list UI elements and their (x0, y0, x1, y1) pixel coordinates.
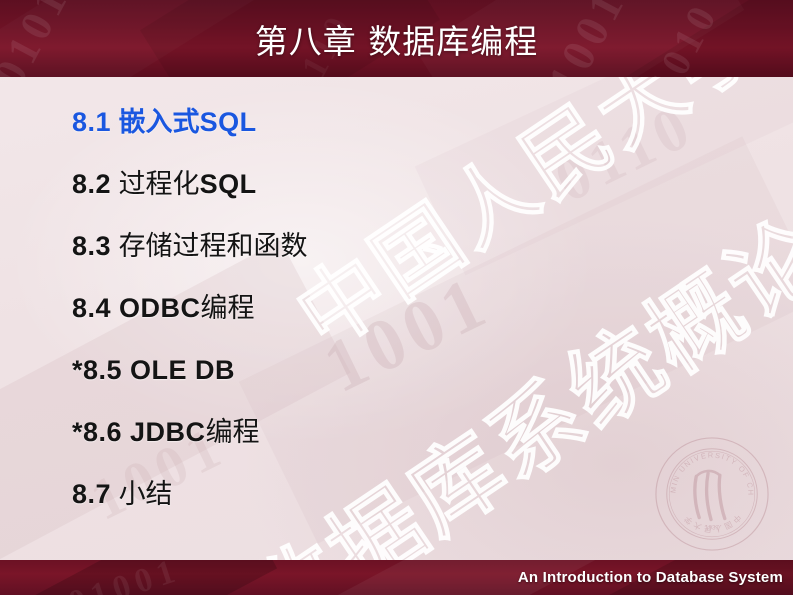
agenda-list: 8.1 嵌入式SQL 8.2 过程化SQL 8.3 存储过程和函数 8.4 OD… (72, 91, 712, 525)
agenda-item-label-cjk: 嵌入式 (119, 107, 200, 138)
agenda-item-label-cjk: 编程 (206, 417, 260, 448)
presentation-slide: 1001 0110 1001 中国人民大学 数据库系统概论 RENMIN UNI… (0, 0, 793, 595)
agenda-item-label-cjk: 过程化 (119, 169, 200, 200)
agenda-item-label-cjk: 存储过程和函数 (119, 231, 308, 262)
agenda-item-8-6[interactable]: *8.6 JDBC编程 (72, 401, 712, 463)
agenda-item-label-latin: SQL (200, 107, 257, 137)
agenda-item-8-1[interactable]: 8.1 嵌入式SQL (72, 91, 712, 153)
agenda-item-number: 8.3 (72, 231, 111, 261)
agenda-item-number: *8.5 OLE DB (72, 355, 235, 385)
slide-header-banner: 010101 1001 1010 0110 第八章 数据库编程 (0, 0, 793, 77)
agenda-item-8-7[interactable]: 8.7 小结 (72, 463, 712, 525)
agenda-item-number: 8.4 ODBC (72, 293, 201, 323)
agenda-item-number: 8.2 (72, 169, 111, 199)
footer-course-title: An Introduction to Database System (518, 560, 783, 595)
slide-content: 8.1 嵌入式SQL 8.2 过程化SQL 8.3 存储过程和函数 8.4 OD… (0, 77, 793, 560)
agenda-item-label-cjk: 编程 (201, 293, 255, 324)
agenda-item-8-4[interactable]: 8.4 ODBC编程 (72, 277, 712, 339)
agenda-item-label-cjk: 小结 (119, 479, 173, 510)
slide-footer-banner: 01001 An Introduction to Database System (0, 560, 793, 595)
agenda-item-8-3[interactable]: 8.3 存储过程和函数 (72, 215, 712, 277)
agenda-item-number: *8.6 JDBC (72, 417, 206, 447)
agenda-item-number: 8.7 (72, 479, 111, 509)
agenda-item-label-latin: SQL (200, 169, 257, 199)
agenda-item-8-2[interactable]: 8.2 过程化SQL (72, 153, 712, 215)
slide-title: 第八章 数据库编程 (0, 0, 793, 77)
agenda-item-number: 8.1 (72, 107, 111, 137)
agenda-item-8-5[interactable]: *8.5 OLE DB (72, 339, 712, 401)
